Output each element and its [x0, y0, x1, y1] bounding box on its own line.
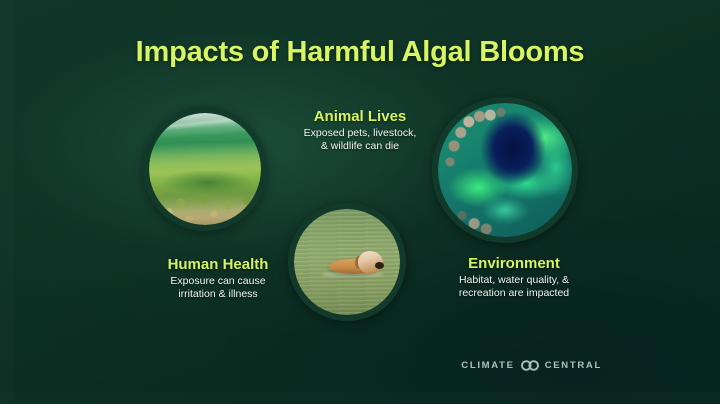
- image-circle-animal-lives: [288, 203, 406, 321]
- satellite-algal-bloom-photo: [438, 103, 572, 237]
- panel-description-line-2: recreation are impacted: [424, 287, 604, 300]
- interlocking-circles-icon: [520, 360, 540, 371]
- logo-word-central: CENTRAL: [545, 360, 602, 371]
- page-title: Impacts of Harmful Algal Blooms: [0, 36, 720, 69]
- algal-blooms-infographic: Impacts of Harmful Algal Blooms Animal L…: [0, 0, 720, 404]
- panel-description-line-1: Habitat, water quality, &: [424, 274, 604, 287]
- panel-description-line-2: irritation & illness: [136, 288, 300, 301]
- image-frame-animal-lives: [294, 209, 400, 315]
- panel-heading-human-health: Human Health: [136, 256, 300, 273]
- panel-label-human-health: Human Health Exposure can cause irritati…: [136, 256, 300, 301]
- dog-swimming-in-algae-water-photo: [294, 209, 400, 315]
- panel-description-line-1: Exposed pets, livestock,: [278, 127, 442, 140]
- algae-bloom-shoreline-photo: [149, 113, 261, 225]
- panel-heading-animal-lives: Animal Lives: [278, 108, 442, 125]
- image-circle-human-health: [143, 107, 267, 231]
- climate-central-logo: CLIMATE CENTRAL: [461, 360, 602, 371]
- panel-description-animal-lives: Exposed pets, livestock, & wildlife can …: [278, 127, 442, 153]
- panel-label-environment: Environment Habitat, water quality, & re…: [424, 255, 604, 300]
- logo-word-climate: CLIMATE: [461, 360, 514, 371]
- panel-description-line-2: & wildlife can die: [278, 140, 442, 153]
- panel-label-animal-lives: Animal Lives Exposed pets, livestock, & …: [278, 108, 442, 153]
- image-frame-human-health: [149, 113, 261, 225]
- panel-description-human-health: Exposure can cause irritation & illness: [136, 275, 300, 301]
- image-circle-environment: [432, 97, 578, 243]
- panel-description-environment: Habitat, water quality, & recreation are…: [424, 274, 604, 300]
- panel-description-line-1: Exposure can cause: [136, 275, 300, 288]
- dog-muzzle: [375, 262, 385, 269]
- image-frame-environment: [438, 103, 572, 237]
- panel-heading-environment: Environment: [424, 255, 604, 272]
